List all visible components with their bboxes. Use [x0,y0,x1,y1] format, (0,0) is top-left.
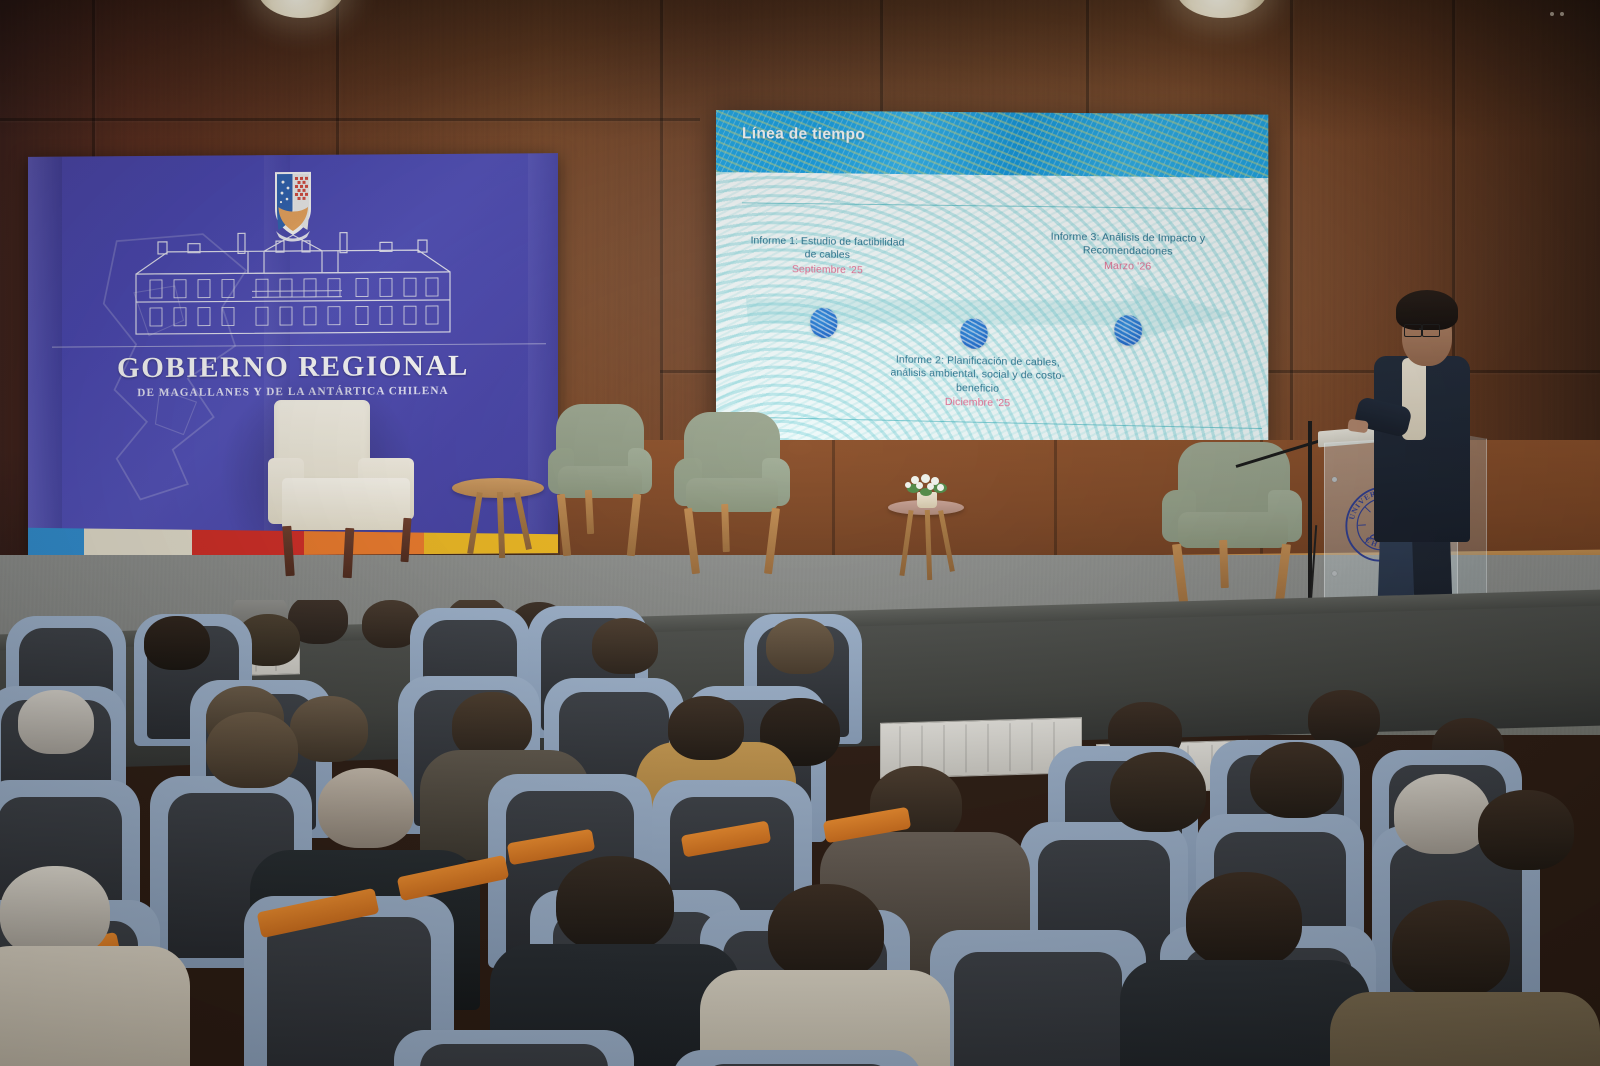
audience-head [668,696,744,760]
chair-seat [686,478,778,512]
green-armchair-1 [546,404,652,576]
timeline-label-2: Informe 2: Planificación de cables, anál… [887,353,1069,412]
stripe-blue [28,528,84,557]
audience-head [768,884,884,980]
audience-head [1394,774,1490,854]
timeline-marker-3 [1114,315,1142,346]
presentation-screen: Línea de tiempo Informe 1: Estudio de fa… [716,110,1268,453]
timeline-marker-2 [960,318,988,349]
audience-head [1392,900,1510,998]
timeline-date-1: Septiembre '25 [744,262,911,278]
white-armchair [262,400,432,578]
moire-pattern [716,110,1268,178]
audience-head [1250,742,1342,818]
chair-seat [282,478,410,530]
slide-timeline: Línea de tiempo Informe 1: Estudio de fa… [716,110,1268,453]
side-table-left [452,478,544,558]
chair-leg [557,494,571,556]
glasses-icon [1422,324,1440,337]
chair-leg [627,494,641,556]
audience-shoulders-olive [1330,992,1600,1066]
green-armchair-2 [672,412,792,588]
audience-head [144,616,210,670]
flower-bloom [921,474,930,483]
stripe-cream [84,528,192,556]
flower-arrangement [903,474,951,508]
audience-head [290,696,368,762]
timeline-label-3-text: Informe 3: Análisis de Impacto y Recomen… [1051,232,1205,259]
audience-shoulders-beige [0,946,190,1066]
timeline-label-3: Informe 3: Análisis de Impacto y Recomen… [1046,230,1210,274]
chair-leg [400,518,411,562]
flower-bloom [937,484,944,491]
chair-leg [343,528,355,578]
audience-head [18,690,94,754]
audience-head [592,618,658,674]
chair-leg [684,508,700,574]
timeline-date-3: Marzo '26 [1046,259,1210,275]
wall-screw-icon [1560,12,1564,16]
audience-head [556,856,674,952]
seat[interactable] [672,1050,922,1066]
table-leg [497,492,505,558]
audience-head [206,712,298,788]
audience-head [0,866,110,958]
table-leg [925,510,932,580]
slide-header-band: Línea de tiempo [716,110,1268,178]
chair-leg [764,508,780,574]
side-table-right [888,500,964,580]
seat[interactable] [930,930,1146,1066]
wall-screw-icon [1550,12,1554,16]
audience-head [318,768,414,848]
table-leg [467,492,483,554]
chair-leg [1219,540,1229,588]
lectern-bolt-icon [1332,571,1337,576]
timeline-marker-1 [810,308,837,339]
table-leg [514,492,532,550]
flower-bloom [927,483,934,490]
audience-head [1186,872,1302,968]
glasses-icon [1404,324,1422,337]
lectern-bolt-icon [1332,477,1337,482]
timeline-label-1-text: Informe 1: Estudio de factibilidad de ca… [751,235,905,261]
chair-leg [282,526,294,577]
audience-head [766,618,834,674]
table-leg [938,510,955,572]
audience-head [1110,752,1206,832]
flower-bloom [916,482,923,489]
glasses-bridge [1419,328,1423,330]
slide-title: Línea de tiempo [742,125,865,144]
chair-seat [558,466,642,498]
flower-bloom [905,482,911,488]
table-leg [899,510,913,576]
audience-head [1478,790,1574,870]
government-building-outline [128,228,458,350]
timeline-label-1: Informe 1: Estudio de factibilidad de ca… [744,234,911,278]
auditorium-scene: GOBIERNO REGIONAL DE MAGALLANES Y DE LA … [0,0,1600,1066]
presenter-hand [1347,419,1368,434]
audience-seating [0,600,1600,1066]
timeline-label-2-text: Informe 2: Planificación de cables, anál… [891,354,1066,394]
seat[interactable] [394,1030,634,1066]
